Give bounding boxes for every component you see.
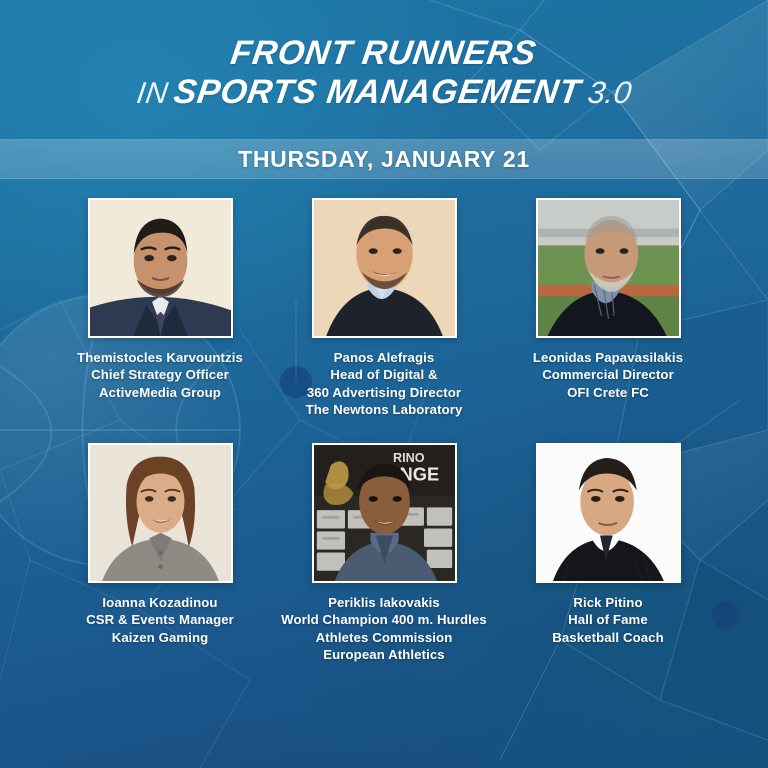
speaker-role: Hall of Fame [552,611,664,628]
speakers-row-1: Themistocles Karvountzis Chief Strategy … [0,198,768,419]
event-poster: FRONT RUNNERS INSPORTS MANAGEMENT3.0 THU… [0,0,768,768]
photo-themistocles-karvountzis [90,200,231,336]
photo-periklis-iakovakis: RINO LENGE ZIES [314,445,455,581]
speaker-role-2: Athletes Commission [281,629,487,646]
photo-frame [312,198,457,338]
speaker-caption: Ioanna Kozadinou CSR & Events Manager Ka… [86,594,234,646]
photo-ioanna-kozadinou [90,445,231,581]
speakers-row-2: Ioanna Kozadinou CSR & Events Manager Ka… [0,443,768,664]
photo-rick-pitino [538,445,679,581]
title-main: SPORTS MANAGEMENT [172,75,583,110]
speaker-org: Basketball Coach [552,629,664,646]
speaker-role-2: 360 Advertising Director [306,384,463,401]
speaker-caption: Panos Alefragis Head of Digital & 360 Ad… [306,349,463,419]
title-prefix: IN [135,78,170,109]
speaker-org: Kaizen Gaming [86,629,234,646]
speaker-name: Ioanna Kozadinou [86,594,234,611]
speaker-card-periklis-iakovakis: RINO LENGE ZIES [272,443,496,664]
speaker-card-rick-pitino: Rick Pitino Hall of Fame Basketball Coac… [496,443,720,646]
speaker-role: Commercial Director [533,366,683,383]
speaker-name: Periklis Iakovakis [281,594,487,611]
speaker-role: Head of Digital & [306,366,463,383]
photo-frame [536,198,681,338]
photo-frame [88,198,233,338]
speaker-role: Chief Strategy Officer [77,366,243,383]
speaker-name: Themistocles Karvountzis [77,349,243,366]
photo-frame [88,443,233,583]
speaker-caption: Rick Pitino Hall of Fame Basketball Coac… [552,594,664,646]
speaker-name: Rick Pitino [552,594,664,611]
speaker-card-panos-alefragis: Panos Alefragis Head of Digital & 360 Ad… [272,198,496,419]
title-line-1: FRONT RUNNERS [229,36,539,71]
photo-frame: RINO LENGE ZIES [312,443,457,583]
speaker-card-ioanna-kozadinou: Ioanna Kozadinou CSR & Events Manager Ka… [48,443,272,646]
title-version: 3.0 [585,77,633,109]
speaker-org: The Newtons Laboratory [306,401,463,418]
poster-title: FRONT RUNNERS INSPORTS MANAGEMENT3.0 [0,36,768,111]
photo-frame [536,443,681,583]
speaker-caption: Periklis Iakovakis World Champion 400 m.… [281,594,487,664]
photo-panos-alefragis [314,200,455,336]
speaker-name: Panos Alefragis [306,349,463,366]
speaker-name: Leonidas Papavasilakis [533,349,683,366]
speaker-org: OFI Crete FC [533,384,683,401]
speaker-caption: Leonidas Papavasilakis Commercial Direct… [533,349,683,401]
speaker-card-themistocles-karvountzis: Themistocles Karvountzis Chief Strategy … [48,198,272,401]
speaker-caption: Themistocles Karvountzis Chief Strategy … [77,349,243,401]
speaker-org: ActiveMedia Group [77,384,243,401]
date-band: THURSDAY, JANUARY 21 [0,139,768,179]
title-line-2: INSPORTS MANAGEMENT3.0 [0,75,768,110]
speaker-card-leonidas-papavasilakis: Leonidas Papavasilakis Commercial Direct… [496,198,720,401]
speaker-role: CSR & Events Manager [86,611,234,628]
photo-leonidas-papavasilakis [538,200,679,336]
speaker-org: European Athletics [281,646,487,663]
speaker-role: World Champion 400 m. Hurdles [281,611,487,628]
date-text: THURSDAY, JANUARY 21 [238,146,530,173]
speakers-grid: Themistocles Karvountzis Chief Strategy … [0,198,768,663]
